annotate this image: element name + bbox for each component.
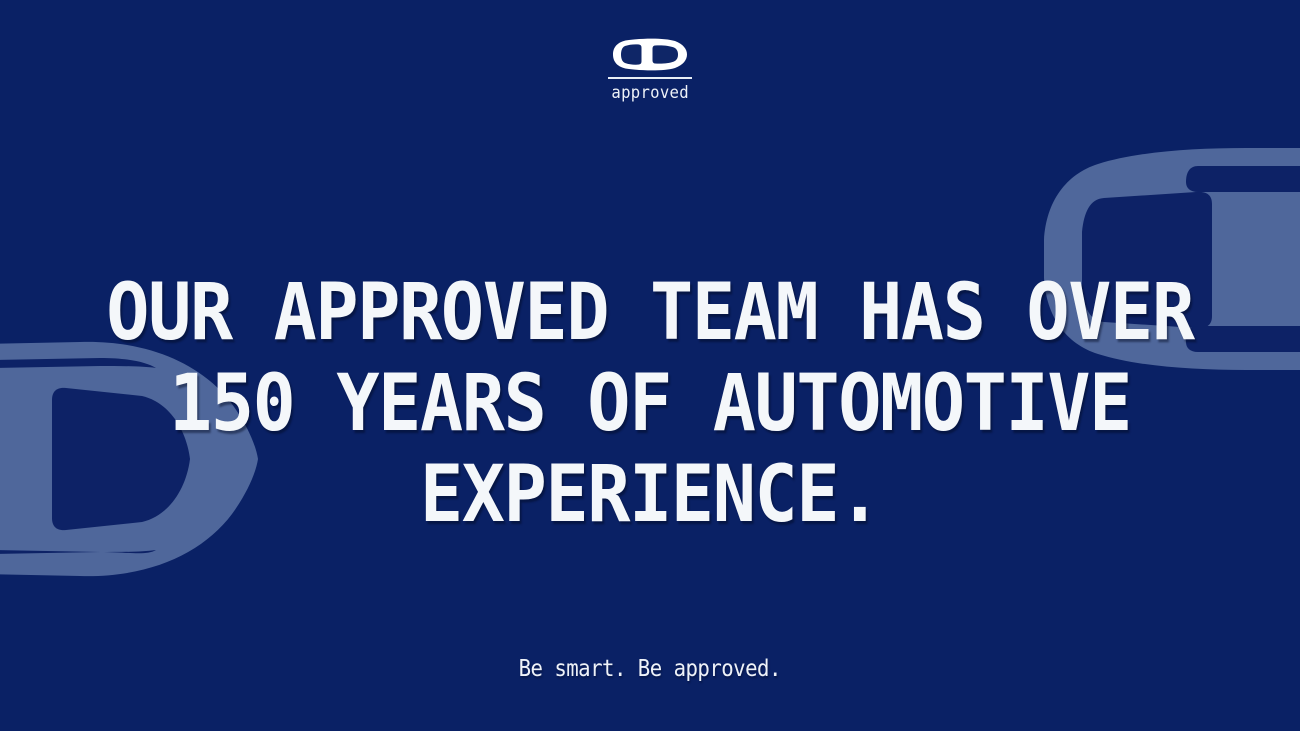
tagline: Be smart. Be approved.: [0, 655, 1300, 683]
page-title: OUR APPROVED TEAM HAS OVER 150 YEARS OF …: [0, 268, 1300, 541]
slide-canvas: approved OUR APPROVED TEAM HAS OVER 150 …: [0, 0, 1300, 731]
brand-logo: approved: [0, 38, 1300, 103]
car-top-view-icon: [611, 38, 689, 71]
headline-line-1: OUR APPROVED TEAM HAS OVER: [52, 268, 1248, 359]
logo-wordmark: approved: [611, 84, 689, 103]
logo-divider: [608, 77, 692, 79]
tagline-text: Be smart. Be approved.: [519, 655, 781, 683]
headline-line-3: EXPERIENCE.: [52, 450, 1248, 541]
headline-line-2: 150 YEARS OF AUTOMOTIVE: [52, 359, 1248, 450]
